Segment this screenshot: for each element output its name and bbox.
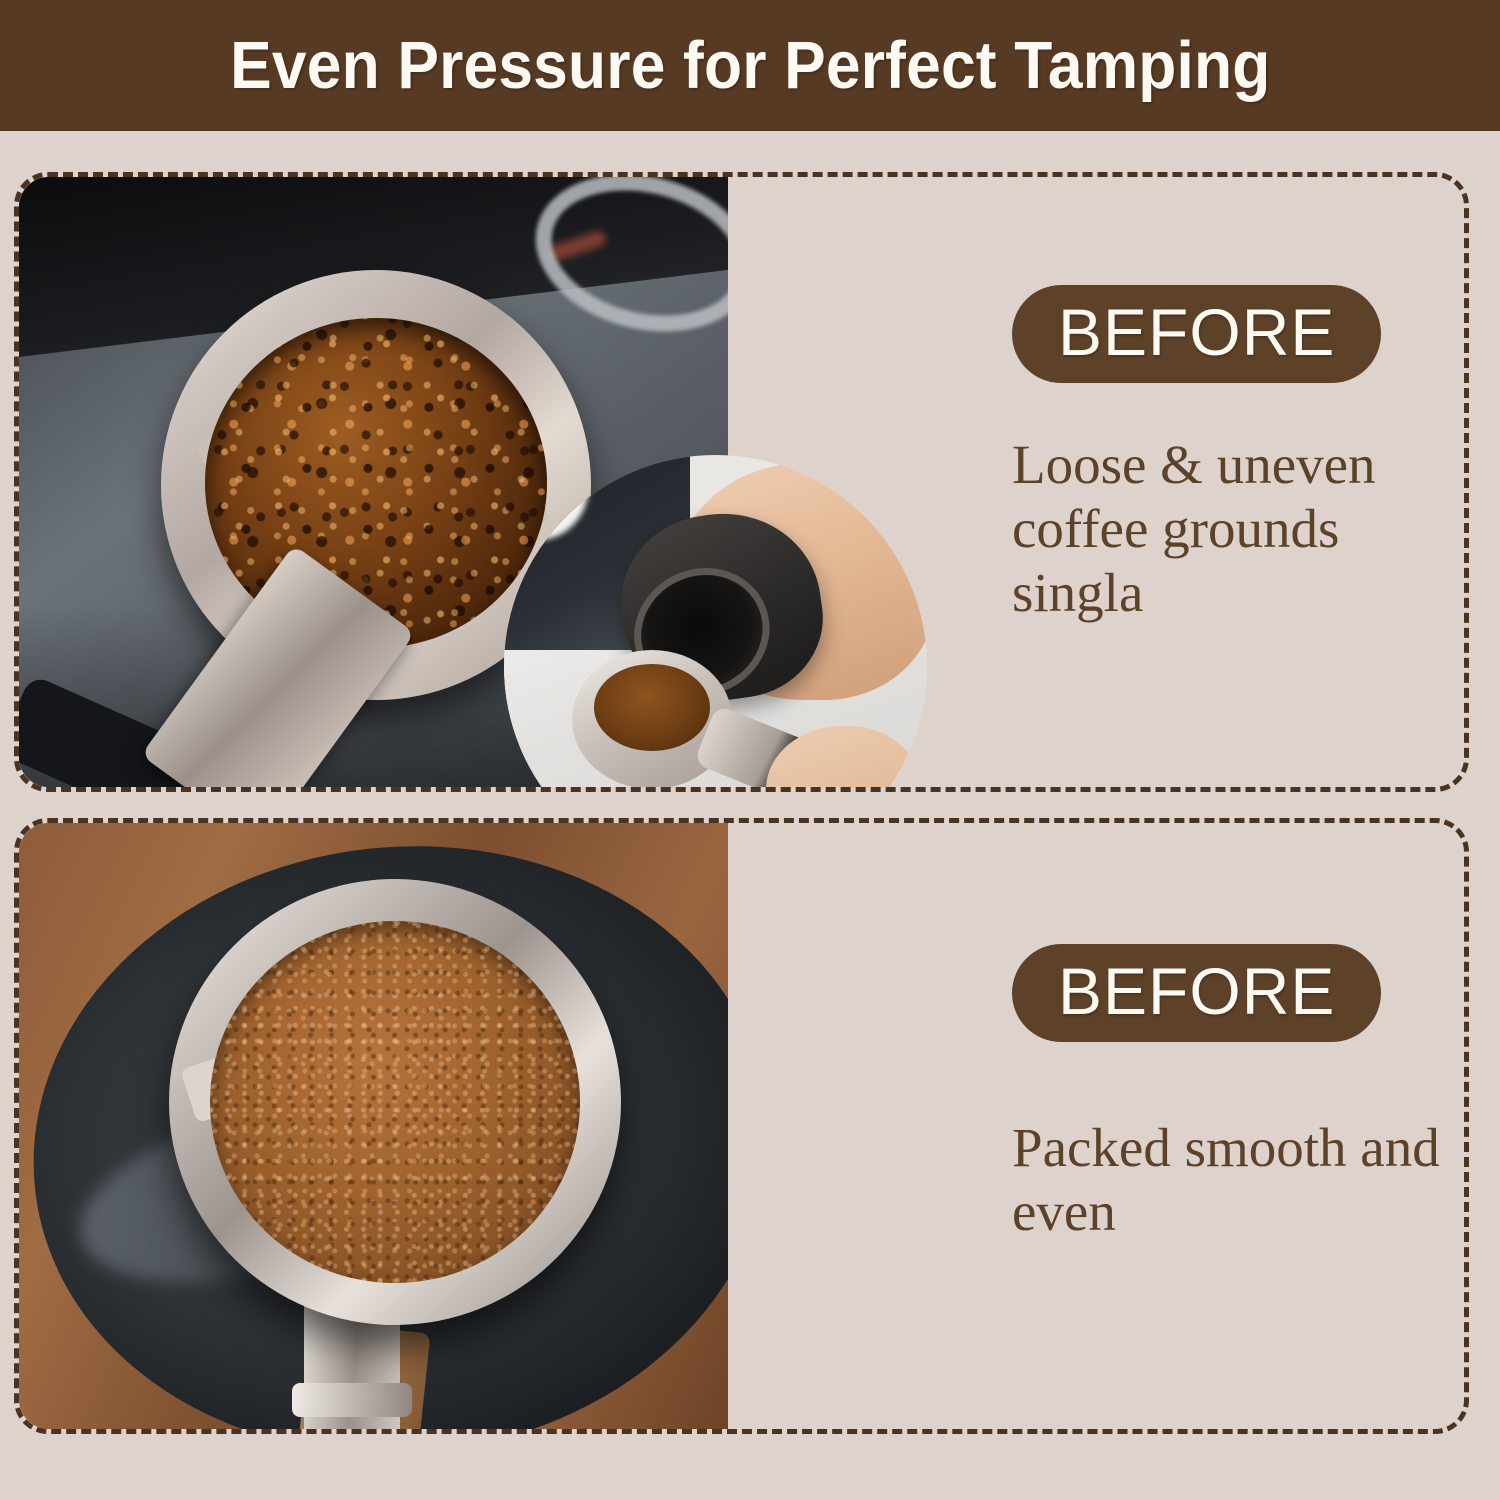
tamped-portafilter-photo	[19, 823, 728, 1429]
portafilter-stem-ring	[292, 1383, 412, 1417]
status-badge: BEFORE	[1012, 944, 1381, 1042]
inset-1-scene	[504, 455, 927, 787]
inset-coffee-grounds	[594, 664, 710, 751]
panel-1-content: BEFORE Loose & uneven coffee grounds sin…	[1012, 285, 1442, 624]
tamped-grounds-texture	[210, 921, 580, 1283]
even-coffee-bed	[210, 921, 580, 1283]
page-title: Even Pressure for Perfect Tamping	[230, 32, 1270, 99]
header-bar: Even Pressure for Perfect Tamping	[0, 0, 1500, 131]
panel-1-inset-photo	[504, 455, 927, 787]
status-badge: BEFORE	[1012, 285, 1381, 383]
panel-2-caption: Packed smooth and even	[1012, 1116, 1442, 1244]
panel-2-main-photo	[19, 823, 728, 1429]
bottomless-portafilter-rim	[169, 879, 621, 1325]
panel-2-content: BEFORE Packed smooth and even	[1012, 944, 1442, 1244]
panel-1-caption: Loose & uneven coffee grounds singla	[1012, 433, 1442, 624]
